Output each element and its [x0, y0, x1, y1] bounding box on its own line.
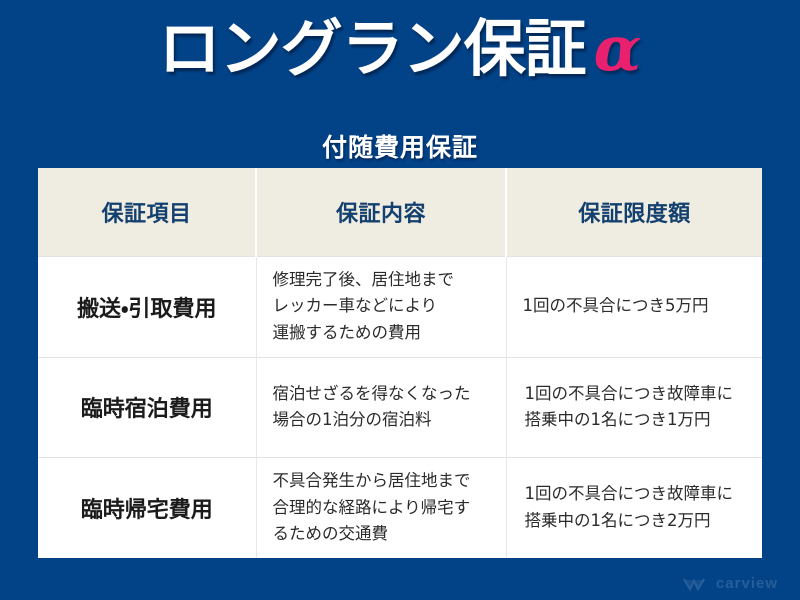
- watermark-label: carview: [716, 575, 778, 592]
- page-title: ロングラン保証α: [0, 18, 800, 80]
- cell-description-line: 不具合発生から居住地まで: [273, 468, 498, 495]
- cell-limit-line: 搭乗中の1名につき2万円: [525, 508, 755, 535]
- column-header-limit: 保証限度額: [506, 168, 762, 257]
- cell-item: 臨時宿泊費用: [38, 357, 256, 458]
- cell-limit: 1回の不具合につき5万円: [506, 257, 762, 358]
- watermark-logo-icon: [683, 576, 709, 592]
- table-header-row: 保証項目 保証内容 保証限度額: [38, 168, 762, 257]
- table-header: 保証項目 保証内容 保証限度額: [38, 168, 762, 257]
- page-title-accent-alpha: α: [594, 18, 642, 80]
- cell-item: 臨時帰宅費用: [38, 458, 256, 559]
- cell-description: 修理完了後、居住地まで レッカー車などにより 運搬するための費用: [256, 257, 506, 358]
- table-row: 搬送・引取費用 修理完了後、居住地まで レッカー車などにより 運搬するための費用…: [38, 257, 762, 358]
- watermark: carview: [683, 575, 778, 592]
- column-header-content: 保証内容: [256, 168, 506, 257]
- cell-description-line: 場合の1泊分の宿泊料: [273, 407, 498, 434]
- cell-limit: 1回の不具合につき故障車に 搭乗中の1名につき1万円: [506, 357, 762, 458]
- cell-item: 搬送・引取費用: [38, 257, 256, 358]
- cell-description: 宿泊せざるを得なくなった 場合の1泊分の宿泊料: [256, 357, 506, 458]
- table-row: 臨時帰宅費用 不具合発生から居住地まで 合理的な経路により帰宅す るための交通費…: [38, 458, 762, 559]
- cell-limit-line: 搭乗中の1名につき1万円: [525, 407, 755, 434]
- slide-root: ロングラン保証α 付随費用保証 保証項目 保証内容 保証限度額 搬送・引取費用: [0, 0, 800, 600]
- page-subtitle: 付随費用保証: [0, 128, 800, 164]
- guarantee-table-container: 保証項目 保証内容 保証限度額 搬送・引取費用 修理完了後、居住地まで レッカー…: [38, 168, 762, 558]
- cell-description-line: 合理的な経路により帰宅す: [273, 495, 498, 522]
- cell-limit-line: 1回の不具合につき故障車に: [525, 481, 755, 508]
- cell-description-line: 修理完了後、居住地まで: [273, 267, 498, 294]
- guarantee-table: 保証項目 保証内容 保証限度額 搬送・引取費用 修理完了後、居住地まで レッカー…: [38, 168, 762, 558]
- column-header-item: 保証項目: [38, 168, 256, 257]
- table-row: 臨時宿泊費用 宿泊せざるを得なくなった 場合の1泊分の宿泊料 1回の不具合につき…: [38, 357, 762, 458]
- cell-description-line: 運搬するための費用: [273, 320, 498, 347]
- cell-limit-line: 1回の不具合につき故障車に: [525, 381, 755, 408]
- table-body: 搬送・引取費用 修理完了後、居住地まで レッカー車などにより 運搬するための費用…: [38, 257, 762, 559]
- cell-description-line: るための交通費: [273, 521, 498, 548]
- cell-limit: 1回の不具合につき故障車に 搭乗中の1名につき2万円: [506, 458, 762, 559]
- cell-limit-line: 1回の不具合につき5万円: [523, 293, 755, 320]
- cell-description-line: 宿泊せざるを得なくなった: [273, 381, 498, 408]
- page-title-main: ロングラン保証: [159, 18, 586, 80]
- cell-description: 不具合発生から居住地まで 合理的な経路により帰宅す るための交通費: [256, 458, 506, 559]
- cell-description-line: レッカー車などにより: [273, 293, 498, 320]
